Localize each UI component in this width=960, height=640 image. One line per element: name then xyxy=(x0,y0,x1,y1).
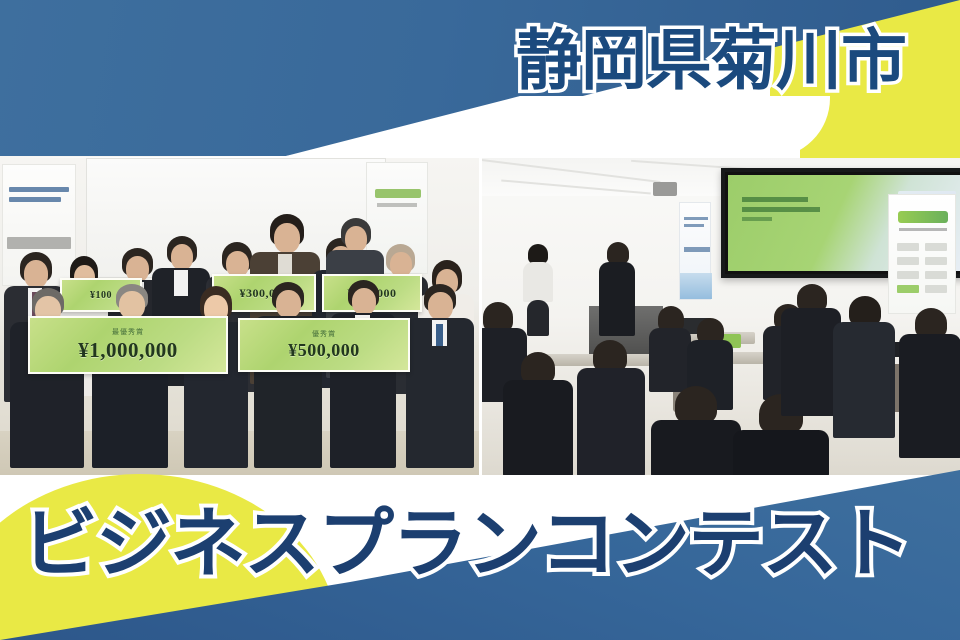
person xyxy=(406,284,474,468)
prize-label: 最優秀賞 xyxy=(112,327,144,337)
prize-check-first: 最優秀賞 ¥1,000,000 xyxy=(28,316,228,374)
photo-award-ceremony: ¥100 ¥300,000 ¥100,000 xyxy=(0,156,481,475)
person xyxy=(330,280,396,468)
person xyxy=(781,284,841,416)
person xyxy=(254,282,322,468)
person xyxy=(651,386,741,475)
person xyxy=(92,284,168,468)
person xyxy=(503,352,573,475)
banner-stage: ¥100 ¥300,000 ¥100,000 xyxy=(0,0,960,640)
person xyxy=(523,244,553,334)
page-title-region: 静岡県菊川市 xyxy=(516,28,906,94)
person xyxy=(599,242,635,336)
sponsor-banner-right xyxy=(888,194,956,314)
person xyxy=(899,308,960,458)
person xyxy=(184,286,248,468)
prize-label: 優秀賞 xyxy=(312,329,336,339)
prize-check-second: 優秀賞 ¥500,000 xyxy=(238,318,410,372)
person xyxy=(10,288,84,468)
prize-amount: ¥1,000,000 xyxy=(78,338,178,363)
person xyxy=(649,306,691,392)
prize-amount: ¥500,000 xyxy=(288,340,360,361)
photo-divider xyxy=(479,156,482,475)
ceiling-speaker xyxy=(653,182,677,196)
person xyxy=(577,340,645,475)
photo-strip: ¥100 ¥300,000 ¥100,000 xyxy=(0,156,960,475)
person xyxy=(833,296,895,438)
page-title-contest: ビジネスプランコンテスト xyxy=(22,506,910,582)
photo-presentation-room xyxy=(481,156,960,475)
roll-banner-left xyxy=(679,202,711,300)
